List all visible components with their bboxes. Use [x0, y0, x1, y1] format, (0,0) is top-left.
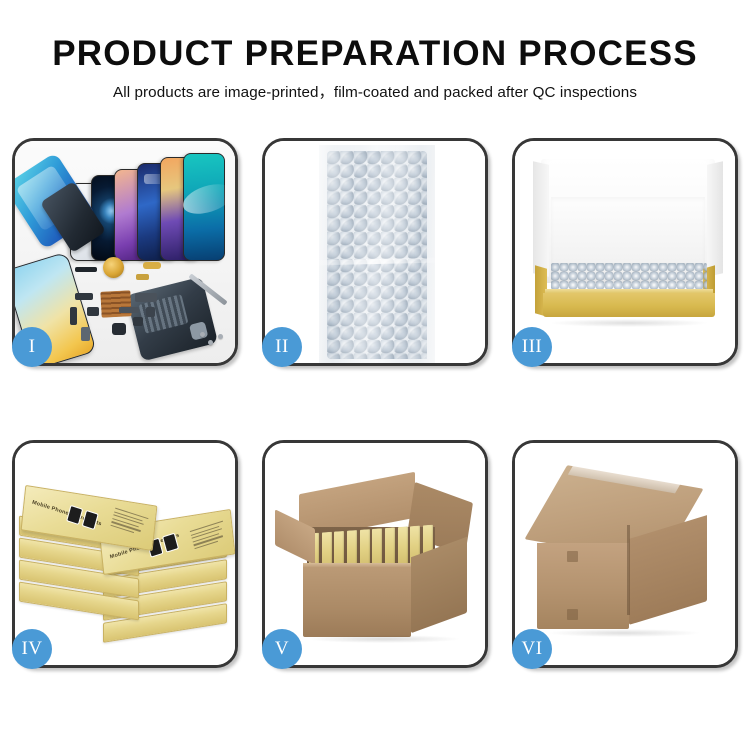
- step-4-image: Mobile Phone Spare Parts Mobile Phone Sp…: [15, 443, 235, 665]
- step-1-image: [15, 141, 235, 363]
- step-badge-3: III: [512, 327, 552, 367]
- process-step-panel-4: Mobile Phone Spare Parts Mobile Phone Sp…: [12, 440, 238, 668]
- flex-cable-icon: [75, 267, 97, 272]
- box-artwork-screens: [66, 505, 99, 530]
- box-spec-lines: [190, 521, 229, 552]
- step-badge-6: VI: [512, 629, 552, 669]
- step-5-image: [265, 443, 485, 665]
- product-preparation-process-page: PRODUCT PREPARATION PROCESS All products…: [0, 0, 750, 750]
- phone-screen-icon: [183, 153, 225, 261]
- phone-parts-scene: [15, 141, 235, 363]
- small-part-icon: [75, 293, 93, 300]
- carton-edge: [627, 525, 630, 615]
- box-stack: Mobile Phone Spare Parts Mobile Phone Sp…: [17, 463, 235, 653]
- page-title: PRODUCT PREPARATION PROCESS: [0, 34, 750, 74]
- small-part-icon: [119, 307, 139, 313]
- step-3-image: [515, 141, 735, 363]
- small-part-icon: [81, 327, 90, 341]
- step-badge-1: I: [12, 327, 52, 367]
- plastic-gloss-overlay: [319, 145, 435, 363]
- connector-grid-icon: [100, 290, 131, 318]
- carton-flap-notch: [567, 609, 578, 620]
- header: PRODUCT PREPARATION PROCESS All products…: [0, 34, 750, 103]
- speaker-part-icon: [112, 323, 126, 335]
- screw-icon: [218, 334, 223, 339]
- wireless-coil-icon: [103, 257, 124, 278]
- process-step-panel-3: III: [512, 138, 738, 366]
- phone-thumbnail-icon: [82, 510, 99, 530]
- drop-shadow: [549, 629, 699, 637]
- small-part-icon: [70, 307, 77, 325]
- phone-thumbnail-icon: [66, 505, 83, 525]
- process-step-panel-5: V: [262, 440, 488, 668]
- flex-cable-icon: [136, 274, 149, 280]
- sealed-carton-scene: [515, 443, 735, 665]
- small-part-icon: [133, 317, 143, 326]
- screw-icon: [208, 340, 213, 345]
- inner-box-scene: [515, 141, 735, 363]
- process-step-grid: I II: [12, 138, 738, 668]
- step-6-image: [515, 443, 735, 665]
- open-carton-scene: [265, 443, 485, 665]
- step-badge-5: V: [262, 629, 302, 669]
- carton-flap-notch: [567, 551, 578, 562]
- step-badge-2: II: [262, 327, 302, 367]
- small-part-icon: [146, 307, 155, 317]
- stacked-boxes-scene: Mobile Phone Spare Parts Mobile Phone Sp…: [15, 443, 235, 665]
- bubble-wrap-scene: [265, 141, 485, 363]
- carton-front-panel: [303, 567, 411, 637]
- step-2-image: [265, 141, 485, 363]
- process-step-panel-2: II: [262, 138, 488, 366]
- page-subtitle: All products are image-printed，film-coat…: [0, 83, 750, 103]
- process-step-panel-6: VI: [512, 440, 738, 668]
- box-front-panel: [543, 293, 715, 317]
- carton-front-panel: [537, 543, 629, 629]
- phone-screen-fan: [67, 149, 235, 261]
- process-step-panel-1: I: [12, 138, 238, 366]
- box-spec-lines: [110, 508, 149, 539]
- flex-cable-icon: [143, 262, 161, 269]
- step-badge-4: IV: [12, 629, 52, 669]
- small-part-icon: [135, 293, 157, 302]
- screw-icon: [200, 332, 205, 337]
- foam-insert-icon: [551, 197, 705, 263]
- small-part-icon: [87, 307, 99, 316]
- drop-shadow: [551, 319, 707, 327]
- drop-shadow: [309, 635, 459, 643]
